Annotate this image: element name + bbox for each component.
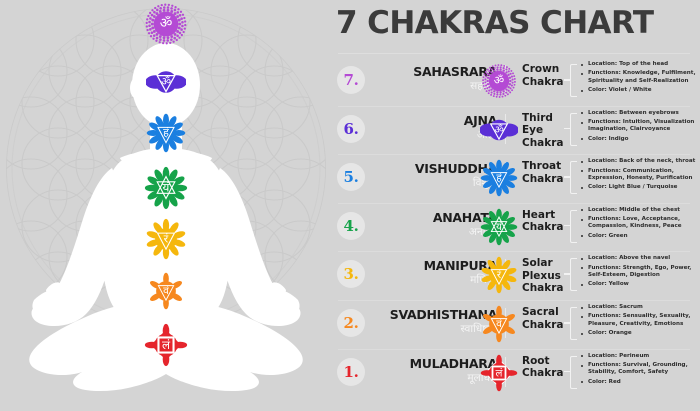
row-number-badge: 3. <box>337 260 365 288</box>
detail-functions: Functions: Knowledge, Fulfilment, Spirit… <box>581 70 697 84</box>
chakra-devanagari-name: स्वाधिष्ठान <box>372 323 497 336</box>
row-number-badge: 1. <box>337 358 365 386</box>
chakra-sanskrit-name: MANIPURA <box>372 258 497 273</box>
chakra-symbol: ॐ <box>480 111 518 149</box>
chakra-symbol-icon: ॐ <box>480 62 518 100</box>
row-number-badge: 7. <box>337 66 365 94</box>
row-number-badge: 5. <box>337 163 365 191</box>
chakra-devanagari-name: मणिपुर <box>372 274 497 287</box>
chakra-english-name: Throat Chakra <box>522 160 570 185</box>
row-divider <box>338 106 690 107</box>
chakra-sanskrit-name: MULADHARA <box>372 356 497 371</box>
svg-text:ॐ: ॐ <box>161 75 171 88</box>
title-divider <box>338 53 690 54</box>
row-divider <box>338 154 690 155</box>
chakra-symbol-icon: रं <box>480 256 518 294</box>
detail-location: Location: Above the navel <box>581 255 697 262</box>
chakra-name-block: SVADHISTHANAस्वाधिष्ठान <box>372 307 497 336</box>
detail-functions: Functions: Intuition, Visualization Imag… <box>581 119 697 133</box>
chakra-row-throat-chakra[interactable]: 5.VISHUDDHAविशुद्धहंThroat ChakraLocatio… <box>330 154 700 201</box>
chakra-details: Location: Middle of the chestFunctions: … <box>581 207 697 242</box>
chakra-details: Location: Above the navelFunctions: Stre… <box>581 255 697 290</box>
chakra-row-heart-chakra[interactable]: 4.ANAHATAअनाहतयंHeart ChakraLocation: Mi… <box>330 203 700 250</box>
svg-text:वं: वं <box>163 285 169 297</box>
chakra-symbol-icon: यं <box>480 208 518 246</box>
detail-color: Color: Green <box>581 233 697 240</box>
bracket-decoration <box>570 307 577 340</box>
svg-text:रं: रं <box>164 231 169 245</box>
chakra-english-name: Root Chakra <box>522 355 570 380</box>
chakra-devanagari-name: मूलाधार <box>372 372 497 385</box>
chakra-devanagari-name: विशुद्ध <box>372 177 497 190</box>
chakra-name-block: AJNAआज्ञा <box>372 113 497 142</box>
chakra-symbol-icon: ॐ <box>480 111 518 149</box>
svg-text:हं: हं <box>496 172 502 184</box>
detail-location: Location: Top of the head <box>581 61 697 68</box>
chakra-sanskrit-name: VISHUDDHA <box>372 161 497 176</box>
bracket-stub <box>564 128 570 130</box>
detail-location: Location: Perineum <box>581 353 697 360</box>
chakra-name-block: MULADHARAमूलाधार <box>372 356 497 385</box>
row-divider <box>338 203 690 204</box>
detail-functions: Functions: Strength, Ego, Power, Self-Es… <box>581 265 697 279</box>
svg-text:ॐ: ॐ <box>494 124 503 136</box>
svg-text:लं: लं <box>496 367 504 379</box>
chakra-english-name: Crown Chakra <box>522 63 570 88</box>
chakra-details: Location: PerineumFunctions: Survival, G… <box>581 353 697 388</box>
row-divider <box>338 300 690 301</box>
bracket-stub <box>564 371 570 373</box>
chakra-row-third-eye-chakra[interactable]: 6.AJNAआज्ञाॐThird Eye ChakraLocation: Be… <box>330 106 700 153</box>
row-number-badge: 2. <box>337 309 365 337</box>
chakra-infographic: ॐॐहंयंरंवंलं 7 CHAKRAS CHART 7.SAHASRARA… <box>0 0 700 411</box>
bracket-stub <box>564 322 570 324</box>
chakra-symbol: ॐ <box>146 4 187 45</box>
body-chakra-crown-chakra: ॐ <box>146 4 187 45</box>
chakra-symbol-icon: हं <box>480 159 518 197</box>
chakra-english-name: Solar Plexus Chakra <box>522 257 570 295</box>
chakra-symbol: लं <box>480 354 518 392</box>
bracket-stub <box>564 79 570 81</box>
figure-illustration: ॐॐहंयंरंवंलं <box>0 0 330 411</box>
bracket-decoration <box>570 258 577 291</box>
detail-color: Color: Orange <box>581 330 697 337</box>
svg-text:यं: यं <box>496 221 503 233</box>
chakra-row-sacral-chakra[interactable]: 2.SVADHISTHANAस्वाधिष्ठानवंSacral Chakra… <box>330 300 700 347</box>
detail-functions: Functions: Survival, Grounding, Stabilit… <box>581 362 697 376</box>
illustration-panel: ॐॐहंयंरंवंलं <box>0 0 330 411</box>
chakra-english-name: Sacral Chakra <box>522 306 570 331</box>
detail-location: Location: Sacrum <box>581 304 697 311</box>
bracket-stub <box>564 225 570 227</box>
chakra-details: Location: Between eyebrowsFunctions: Int… <box>581 110 697 145</box>
row-divider <box>338 349 690 350</box>
chakra-symbol-icon: लं <box>480 354 518 392</box>
chakra-devanagari-name: अनाहत <box>372 226 497 239</box>
svg-text:ॐ: ॐ <box>160 16 173 32</box>
chakra-sanskrit-name: AJNA <box>372 113 497 128</box>
chakra-symbol: वं <box>480 305 518 343</box>
chakra-symbol: रं <box>480 256 518 294</box>
chakra-details: Location: Top of the headFunctions: Know… <box>581 61 697 96</box>
row-number-badge: 4. <box>337 212 365 240</box>
detail-color: Color: Red <box>581 379 697 386</box>
row-number-badge: 6. <box>337 115 365 143</box>
chakra-row-crown-chakra[interactable]: 7.SAHASRARAसहस्रारॐCrown ChakraLocation:… <box>330 57 700 104</box>
detail-color: Color: Violet / White <box>581 87 697 94</box>
chakra-details: Location: SacrumFunctions: Sensuality, S… <box>581 304 697 339</box>
chakra-name-block: SAHASRARAसहस्रार <box>372 64 497 93</box>
chakra-english-name: Heart Chakra <box>522 209 570 234</box>
chakra-name-block: ANAHATAअनाहत <box>372 210 497 239</box>
svg-text:हं: हं <box>163 126 169 139</box>
svg-text:लं: लं <box>162 338 171 352</box>
detail-color: Color: Light Blue / Turquoise <box>581 184 697 191</box>
chakra-sanskrit-name: ANAHATA <box>372 210 497 225</box>
detail-functions: Functions: Love, Acceptance, Compassion,… <box>581 216 697 230</box>
detail-color: Color: Yellow <box>581 281 697 288</box>
chakra-symbol: यं <box>480 208 518 246</box>
chakra-symbol-icon: वं <box>480 305 518 343</box>
detail-location: Location: Middle of the chest <box>581 207 697 214</box>
detail-functions: Functions: Communication, Expression, Ho… <box>581 168 697 182</box>
chart-panel: 7 CHAKRAS CHART 7.SAHASRARAसहस्रारॐCrown… <box>330 0 700 411</box>
chakra-details: Location: Back of the neck, throatFuncti… <box>581 158 697 193</box>
detail-color: Color: Indigo <box>581 136 697 143</box>
chakra-symbol: ॐ <box>480 62 518 100</box>
svg-text:वं: वं <box>496 318 502 330</box>
svg-text:ॐ: ॐ <box>494 73 504 87</box>
detail-functions: Functions: Sensuality, Sexuality, Pleasu… <box>581 313 697 327</box>
bracket-decoration <box>570 113 577 146</box>
chakra-sanskrit-name: SAHASRARA <box>372 64 497 79</box>
chakra-name-block: VISHUDDHAविशुद्ध <box>372 161 497 190</box>
chakra-devanagari-name: सहस्रार <box>372 80 497 93</box>
page-title: 7 CHAKRAS CHART <box>336 8 694 39</box>
chakra-sanskrit-name: SVADHISTHANA <box>372 307 497 322</box>
bracket-stub <box>564 273 570 275</box>
chakra-english-name: Third Eye Chakra <box>522 112 570 150</box>
bracket-decoration <box>570 161 577 194</box>
bracket-stub <box>564 176 570 178</box>
detail-location: Location: Between eyebrows <box>581 110 697 117</box>
chakra-symbol: हं <box>480 159 518 197</box>
svg-text:यं: यं <box>163 181 171 195</box>
bracket-decoration <box>570 64 577 97</box>
chakra-name-block: MANIPURAमणिपुर <box>372 258 497 287</box>
detail-location: Location: Back of the neck, throat <box>581 158 697 165</box>
bracket-decoration <box>570 210 577 243</box>
chakra-devanagari-name: आज्ञा <box>372 129 497 142</box>
chakra-row-solar-plexus-chakra[interactable]: 3.MANIPURAमणिपुररंSolar Plexus ChakraLoc… <box>330 251 700 298</box>
row-divider <box>338 251 690 252</box>
bracket-decoration <box>570 356 577 389</box>
chakra-row-root-chakra[interactable]: 1.MULADHARAमूलाधारलंRoot ChakraLocation:… <box>330 349 700 396</box>
